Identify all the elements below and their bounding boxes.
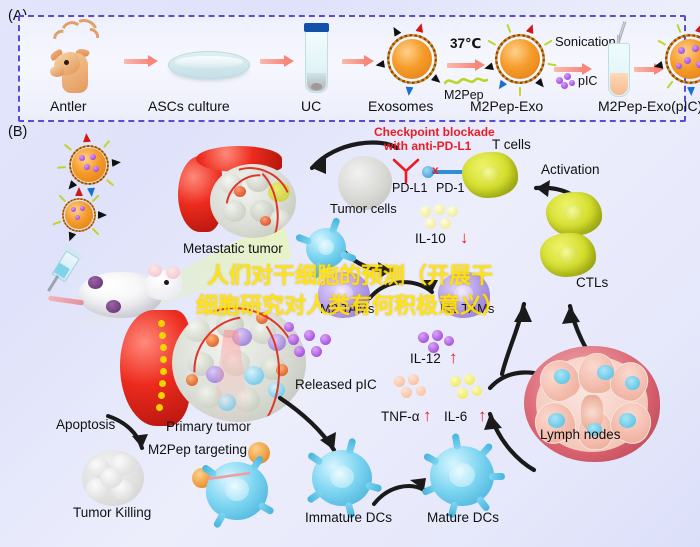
label-released-pic: Released pIC (295, 378, 377, 392)
lymph-node-icon (524, 346, 660, 462)
step-label-exosomes: Exosomes (368, 99, 433, 114)
panel-b-tag: (B) (8, 124, 27, 140)
label-il-6: IL-6 (444, 410, 467, 424)
arrow-il10-down: ↓ (460, 229, 469, 247)
loaded-exosome-icon (662, 31, 700, 87)
label-tumor-cells: Tumor cells (330, 202, 397, 216)
peptide-exosome-icon (492, 31, 548, 87)
deer-icon (48, 19, 118, 97)
label-m1-tams: M1 TAMs (440, 302, 494, 316)
petri-dish-icon (168, 51, 250, 79)
label-tnf-alpha: TNF-α (381, 410, 420, 424)
tumor-glow-beam (196, 330, 266, 440)
label-il-12: IL-12 (410, 352, 441, 366)
arrow-antler-to-culture (124, 57, 158, 66)
label-m2pep-targeting: M2Pep targeting (148, 443, 247, 457)
label-il-10: IL-10 (415, 232, 446, 246)
apoptotic-cell-icon (82, 450, 144, 506)
blockade-cross-icon: x (432, 164, 439, 176)
label-tumor-killing: Tumor Killing (73, 506, 151, 520)
ctl-cell-2-icon (540, 233, 596, 277)
arrow-sonication (554, 65, 592, 74)
dendritic-cell-mid-icon (306, 228, 346, 268)
arrow-tnfa-up: ↑ (423, 407, 432, 425)
injected-exosome-large-icon (66, 142, 112, 188)
step-label-antler: Antler (50, 99, 87, 114)
label-checkpoint-line2: with anti-PD-L1 (384, 140, 471, 153)
label-pd-l1: PD-L1 (392, 182, 427, 195)
centrifuge-tube-icon (305, 29, 328, 93)
step-label-m2pepexopic: M2Pep-Exo(pIC) (598, 99, 700, 114)
m2pep-peptide-icon (444, 75, 488, 87)
label-mature-dcs: Mature DCs (427, 511, 499, 525)
label-ctls: CTLs (576, 276, 608, 290)
arrow-culture-to-uc (260, 57, 294, 66)
sonication-label: Sonication (555, 35, 616, 49)
label-checkpoint-line1: Checkpoint blockade (374, 126, 495, 139)
label-t-cells: T cells (492, 138, 531, 152)
figure-canvas: (A) (0, 0, 700, 547)
mature-dc-icon (430, 446, 494, 506)
ctl-cell-1-icon (546, 192, 602, 236)
label-lymph-nodes: Lymph nodes (540, 428, 621, 442)
panel-a-container: 37℃ M2Pep Sonication (18, 15, 686, 122)
step-label-asc: ASCs culture (148, 99, 230, 114)
pic-label: pIC (578, 75, 597, 88)
t-cell-engaged-icon (462, 152, 518, 198)
label-pd-1: PD-1 (436, 182, 464, 195)
step-label-m2pepexo: M2Pep-Exo (470, 99, 543, 114)
arrow-il12-up: ↑ (449, 349, 458, 367)
sonication-tube-icon (608, 43, 630, 97)
label-immature-dcs: Immature DCs (305, 511, 392, 525)
temperature-label: 37℃ (450, 37, 481, 51)
exosome-icon (384, 31, 440, 87)
arrow-m2-to-m1-polarization (368, 276, 442, 310)
label-metastatic-tumor: Metastatic tumor (183, 242, 283, 256)
step-label-uc: UC (301, 99, 321, 114)
targeting-connector (206, 470, 254, 484)
immature-dc-icon (312, 450, 372, 506)
label-m2-tams: M2 TAMs (320, 302, 374, 316)
